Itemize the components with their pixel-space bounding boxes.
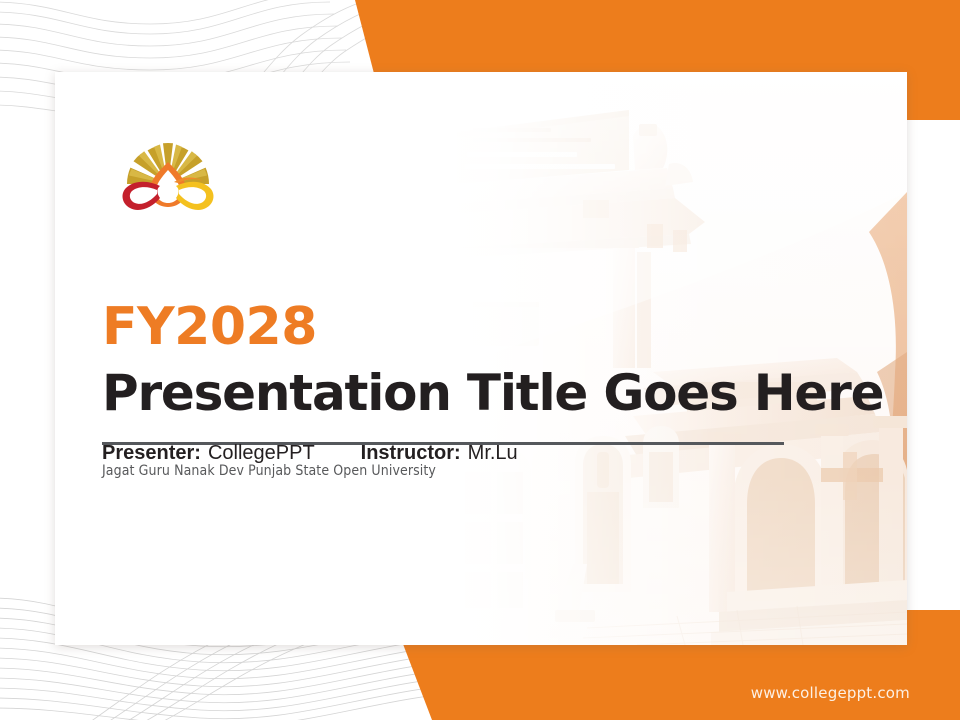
- page-title: Presentation Title Goes Here: [102, 362, 802, 424]
- presenter-info-row: Presenter: CollegePPT Instructor: Mr.Lu: [102, 442, 518, 465]
- presentation-slide: www.collegeppt.com: [0, 0, 960, 720]
- slide-card: FY2028 Presentation Title Goes Here Jaga…: [55, 72, 907, 645]
- website-watermark: www.collegeppt.com: [751, 684, 910, 702]
- instructor-label: Instructor:: [361, 442, 461, 465]
- instructor-group: Instructor: Mr.Lu: [361, 442, 518, 465]
- instructor-value: Mr.Lu: [468, 442, 518, 465]
- university-subtitle: Jagat Guru Nanak Dev Punjab State Open U…: [102, 463, 802, 479]
- presenter-value: CollegePPT: [208, 442, 315, 465]
- university-sunburst-logo: [108, 128, 228, 224]
- presenter-group: Presenter: CollegePPT: [102, 442, 315, 465]
- fiscal-year-label: FY2028: [102, 298, 802, 356]
- presenter-label: Presenter:: [102, 442, 201, 465]
